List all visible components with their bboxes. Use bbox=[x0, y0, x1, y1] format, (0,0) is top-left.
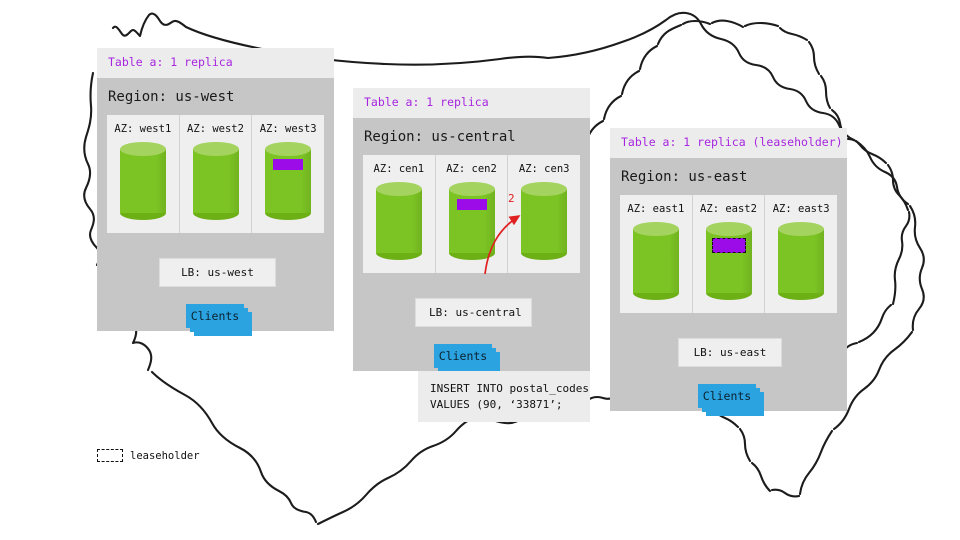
clients-label-us-east: Clients bbox=[703, 389, 751, 403]
az-cell-west1[interactable]: AZ: west1 bbox=[107, 115, 179, 233]
sql-statement-box: INSERT INTO postal_codes VALUES (90, ‘33… bbox=[418, 371, 590, 422]
cylinder-top bbox=[706, 222, 752, 236]
az-cell-east2[interactable]: AZ: east2 bbox=[692, 195, 765, 313]
az-row-us-west: AZ: west1 AZ: west2 bbox=[107, 115, 324, 233]
region-title-us-central: Region: us-central bbox=[353, 118, 590, 155]
region-header-us-central: Table a: 1 replica bbox=[353, 88, 590, 118]
az-label-cen2: AZ: cen2 bbox=[436, 163, 508, 175]
az-row-us-east: AZ: east1 AZ: east2 bbox=[620, 195, 837, 313]
az-cell-west3[interactable]: AZ: west3 bbox=[251, 115, 324, 233]
cylinder-top bbox=[193, 142, 239, 156]
load-balancer-us-central[interactable]: LB: us-central bbox=[415, 298, 532, 327]
cylinder-top bbox=[265, 142, 311, 156]
az-label-cen1: AZ: cen1 bbox=[363, 163, 435, 175]
region-header-us-east: Table a: 1 replica (leaseholder) bbox=[610, 128, 847, 158]
az-label-cen3: AZ: cen3 bbox=[508, 163, 580, 175]
legend-leaseholder: leaseholder bbox=[97, 449, 200, 462]
az-label-east1: AZ: east1 bbox=[620, 203, 692, 215]
routing-arrow-central bbox=[455, 186, 545, 276]
load-balancer-us-east[interactable]: LB: us-east bbox=[678, 338, 782, 367]
cylinder-shading bbox=[814, 229, 824, 293]
clients-stack-us-east[interactable]: Clients bbox=[698, 384, 766, 416]
clients-card-front[interactable]: Clients bbox=[698, 384, 756, 408]
node-cylinder-west1[interactable] bbox=[120, 142, 166, 220]
clients-label-us-central: Clients bbox=[439, 349, 487, 363]
cylinder-top bbox=[633, 222, 679, 236]
cylinder-shading bbox=[156, 149, 166, 213]
node-cylinder-east1[interactable] bbox=[633, 222, 679, 300]
az-cell-east1[interactable]: AZ: east1 bbox=[620, 195, 692, 313]
node-cylinder-cen1[interactable] bbox=[376, 182, 422, 260]
node-cylinder-east2[interactable] bbox=[706, 222, 752, 300]
clients-card-front[interactable]: Clients bbox=[434, 344, 492, 368]
region-title-us-west: Region: us-west bbox=[97, 78, 334, 115]
cylinder-shading bbox=[557, 189, 567, 253]
az-label-west2: AZ: west2 bbox=[180, 123, 252, 135]
az-cell-cen1[interactable]: AZ: cen1 bbox=[363, 155, 435, 273]
cylinder-top bbox=[778, 222, 824, 236]
replica-marker-west3 bbox=[273, 159, 303, 170]
cylinder-top bbox=[120, 142, 166, 156]
clients-label-us-west: Clients bbox=[191, 309, 239, 323]
cylinder-shading bbox=[228, 149, 238, 213]
az-cell-west2[interactable]: AZ: west2 bbox=[179, 115, 252, 233]
az-label-west1: AZ: west1 bbox=[107, 123, 179, 135]
az-label-west3: AZ: west3 bbox=[252, 123, 324, 135]
leaseholder-swatch-icon bbox=[97, 449, 123, 462]
clients-card-front[interactable]: Clients bbox=[186, 304, 244, 328]
clients-stack-us-west[interactable]: Clients bbox=[186, 304, 254, 336]
region-panel-us-west: Table a: 1 replica Region: us-west AZ: w… bbox=[97, 48, 334, 331]
az-label-east2: AZ: east2 bbox=[693, 203, 765, 215]
replica-marker-east2-leaseholder bbox=[712, 238, 746, 253]
region-title-us-east: Region: us-east bbox=[610, 158, 847, 195]
region-panel-us-east: Table a: 1 replica (leaseholder) Region:… bbox=[610, 128, 847, 411]
node-cylinder-west3[interactable] bbox=[265, 142, 311, 220]
az-cell-east3[interactable]: AZ: east3 bbox=[764, 195, 837, 313]
node-cylinder-west2[interactable] bbox=[193, 142, 239, 220]
region-header-us-west: Table a: 1 replica bbox=[97, 48, 334, 78]
cylinder-shading bbox=[412, 189, 422, 253]
node-cylinder-east3[interactable] bbox=[778, 222, 824, 300]
diagram-canvas: Table a: 1 replica Region: us-west AZ: w… bbox=[0, 0, 960, 540]
cylinder-top bbox=[376, 182, 422, 196]
load-balancer-us-west[interactable]: LB: us-west bbox=[159, 258, 276, 287]
legend-label: leaseholder bbox=[130, 450, 200, 462]
cylinder-shading bbox=[669, 229, 679, 293]
arrow-step-label-2: 2 bbox=[508, 192, 515, 205]
az-label-east3: AZ: east3 bbox=[765, 203, 837, 215]
